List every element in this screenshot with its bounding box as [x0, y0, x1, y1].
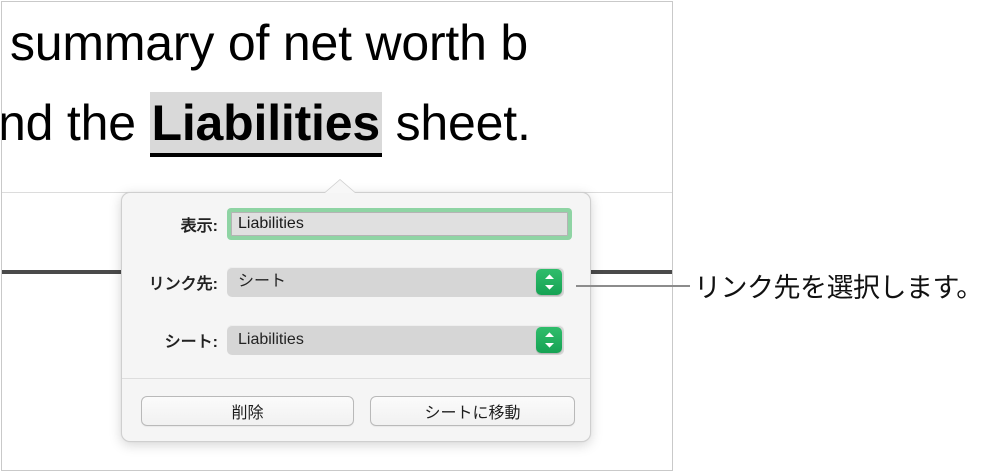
callout-label: リンク先を選択します。 [694, 266, 983, 305]
screenshot-root: summary of net worth b nd the Liabilitie… [0, 0, 987, 473]
popover-footer: 削除 シートに移動 [122, 388, 590, 434]
display-text-field-focus-ring: Liabilities [227, 208, 572, 240]
display-text-row: 表示: Liabilities [122, 207, 590, 241]
sheet-label: シート: [122, 328, 227, 352]
link-editor-popover: 表示: Liabilities リンク先: シート [121, 192, 591, 442]
link-target-row: リンク先: シート [122, 265, 590, 299]
popover-footer-separator [122, 378, 590, 379]
sheet-row: シート: Liabilities [122, 323, 590, 357]
sheet-value: Liabilities [238, 332, 304, 348]
link-target-value: シート [238, 274, 286, 290]
sheet-select[interactable]: Liabilities [227, 325, 564, 355]
hyperlink-liabilities[interactable]: Liabilities [150, 92, 382, 157]
document-text-line-1: summary of net worth b [10, 14, 528, 72]
callout-leader-line [576, 285, 690, 287]
chevron-up-down-icon[interactable] [536, 269, 562, 295]
document-text-line-2: nd the Liabilities sheet. [1, 94, 531, 152]
popover-arrow [325, 180, 355, 193]
display-text-input[interactable]: Liabilities [231, 212, 568, 236]
document-text-before-link: nd the [1, 95, 150, 151]
chevron-up-down-icon[interactable] [536, 327, 562, 353]
link-target-label: リンク先: [122, 270, 227, 294]
goto-sheet-button[interactable]: シートに移動 [370, 396, 575, 426]
delete-button[interactable]: 削除 [141, 396, 354, 426]
display-text-label: 表示: [122, 212, 227, 236]
document-text-after-link: sheet. [382, 95, 531, 151]
link-target-select[interactable]: シート [227, 267, 564, 297]
